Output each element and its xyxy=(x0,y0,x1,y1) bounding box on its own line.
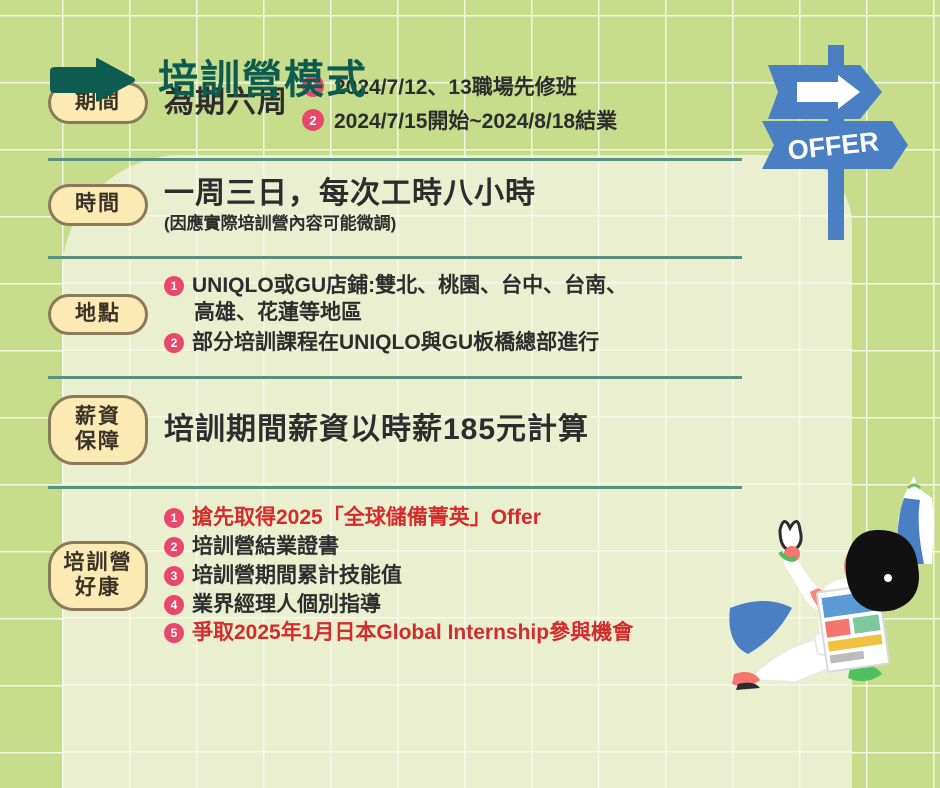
row-label-benefits-line2: 好康 xyxy=(51,576,145,601)
page-header: 培訓營模式 xyxy=(0,45,368,115)
benefits-list: 1 搶先取得2025「全球儲備菁英」Offer 2 培訓營結業證書 3 培訓營期… xyxy=(164,505,742,647)
badge-number: 2 xyxy=(164,333,184,353)
badge-number: 1 xyxy=(164,276,184,296)
badge-number: 5 xyxy=(164,623,184,643)
location-item-text: 部分培訓課程在UNIQLO與GU板橋總部進行 xyxy=(192,330,599,357)
row-benefits: 培訓營 好康 1 搶先取得2025「全球儲備菁英」Offer 2 培訓營結業證書… xyxy=(48,499,742,653)
list-item: 4 業界經理人個別指導 xyxy=(164,592,742,619)
row-label-schedule: 時間 xyxy=(48,184,148,226)
schedule-note: (因應實際培訓營內容可能微調) xyxy=(164,213,742,234)
row-label-salary: 薪資 保障 xyxy=(48,395,148,466)
divider xyxy=(48,486,742,489)
page-title: 培訓營模式 xyxy=(158,60,368,100)
list-item: 2 部分培訓課程在UNIQLO與GU板橋總部進行 xyxy=(164,330,742,357)
row-label-location: 地點 xyxy=(48,294,148,336)
row-location: 地點 1 UNIQLO或GU店鋪:雙北、桃園、台中、台南、 高雄、花蓮等地區 2… xyxy=(48,267,742,363)
divider xyxy=(48,256,742,259)
location-list: 1 UNIQLO或GU店鋪:雙北、桃園、台中、台南、 高雄、花蓮等地區 2 部分… xyxy=(164,273,742,357)
duration-item-text: 2024/7/12、13職場先修班 xyxy=(334,71,577,101)
row-body-location: 1 UNIQLO或GU店鋪:雙北、桃園、台中、台南、 高雄、花蓮等地區 2 部分… xyxy=(148,273,742,357)
row-body-schedule: 一周三日，每次工時八小時 (因應實際培訓營內容可能微調) xyxy=(148,177,742,235)
row-body-salary: 培訓期間薪資以時薪185元計算 xyxy=(148,413,742,448)
benefit-item-text: 業界經理人個別指導 xyxy=(192,592,381,619)
benefit-item-text: 培訓營期間累計技能值 xyxy=(192,563,402,590)
badge-number: 2 xyxy=(164,537,184,557)
row-body-benefits: 1 搶先取得2025「全球儲備菁英」Offer 2 培訓營結業證書 3 培訓營期… xyxy=(148,505,742,647)
divider xyxy=(48,158,742,161)
right-arrow-icon xyxy=(48,57,136,103)
list-item: 3 培訓營期間累計技能值 xyxy=(164,563,742,590)
schedule-lead: 一周三日，每次工時八小時 xyxy=(164,177,742,212)
salary-lead: 培訓期間薪資以時薪185元計算 xyxy=(164,413,742,448)
list-item: 2 培訓營結業證書 xyxy=(164,534,742,561)
benefit-item-text: 爭取2025年1月日本Global Internship參與機會 xyxy=(192,620,633,647)
badge-number: 3 xyxy=(164,566,184,586)
badge-number: 1 xyxy=(164,508,184,528)
list-item: 1 搶先取得2025「全球儲備菁英」Offer xyxy=(164,505,742,532)
row-label-salary-line2: 保障 xyxy=(51,430,145,455)
woman-reading-magazine-illustration xyxy=(718,468,940,708)
offer-signpost-icon: OFFER xyxy=(742,35,932,250)
benefit-item-text: 培訓營結業證書 xyxy=(192,534,339,561)
benefit-item-text: 搶先取得2025「全球儲備菁英」Offer xyxy=(192,505,541,532)
row-schedule: 時間 一周三日，每次工時八小時 (因應實際培訓營內容可能微調) xyxy=(48,171,742,241)
location-item-continuation: 高雄、花蓮等地區 xyxy=(164,301,362,324)
row-label-salary-line1: 薪資 xyxy=(51,405,145,430)
list-item: 1 UNIQLO或GU店鋪:雙北、桃園、台中、台南、 xyxy=(164,273,742,300)
badge-number: 4 xyxy=(164,595,184,615)
row-label-benefits: 培訓營 好康 xyxy=(48,541,148,612)
list-item: 5 爭取2025年1月日本Global Internship參與機會 xyxy=(164,620,742,647)
row-label-benefits-line1: 培訓營 xyxy=(51,551,145,576)
row-salary: 薪資 保障 培訓期間薪資以時薪185元計算 xyxy=(48,389,742,472)
duration-item-text: 2024/7/15開始~2024/8/18結業 xyxy=(334,105,617,135)
list-item-continuation: 高雄、花蓮等地區 xyxy=(164,300,742,327)
divider xyxy=(48,376,742,379)
location-item-text: UNIQLO或GU店鋪:雙北、桃園、台中、台南、 xyxy=(192,273,627,300)
